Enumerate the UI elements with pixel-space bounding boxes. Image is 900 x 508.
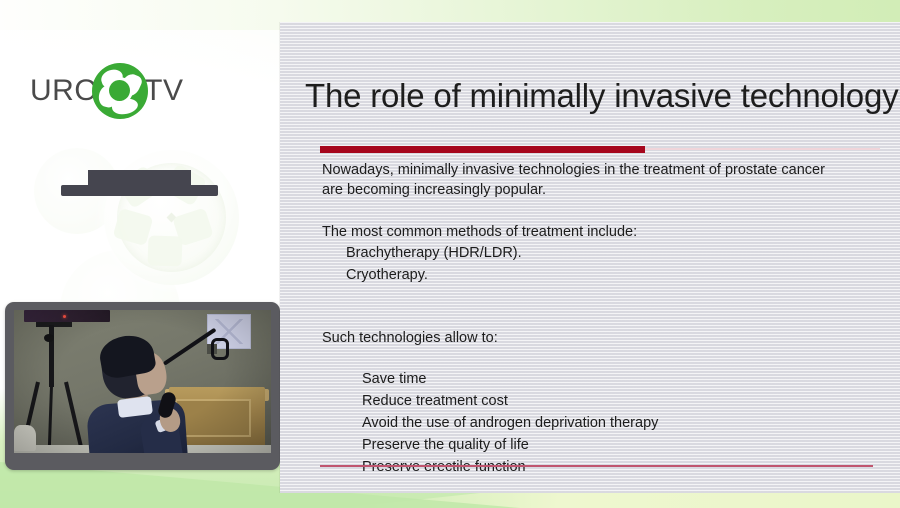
spacer <box>280 348 900 368</box>
methods-heading: The most common methods of treatment inc… <box>280 222 900 242</box>
video-screen[interactable] <box>14 310 271 453</box>
video-scene-mic-boom-head <box>211 338 229 360</box>
list-item: Brachytherapy (HDR/LDR). <box>280 242 900 264</box>
video-player-monitor[interactable] <box>5 302 280 470</box>
video-scene-podium-panel <box>175 399 251 437</box>
video-scene-tripod-head <box>36 322 72 327</box>
monitor-stand-neck <box>88 170 191 185</box>
presentation-viewer: URO TV <box>0 0 900 508</box>
slide-bottom-rule <box>320 465 873 467</box>
list-item: Save time <box>280 368 900 390</box>
spacer <box>280 200 900 222</box>
slide-panel[interactable]: The role of minimally invasive technolog… <box>280 22 900 493</box>
uro-tv-logo[interactable]: URO TV <box>30 62 170 120</box>
slide-body: Nowadays, minimally invasive technologie… <box>280 160 900 478</box>
intro-line-1: Nowadays, minimally invasive technologie… <box>280 160 900 180</box>
video-scene-led-indicator <box>63 315 66 318</box>
benefits-list: Save time Reduce treatment cost Avoid th… <box>280 368 900 478</box>
list-item: Reduce treatment cost <box>280 390 900 412</box>
list-item: Preserve erectile function <box>280 456 900 478</box>
video-scene-cloth <box>14 425 36 451</box>
uro-tv-circular-logo-icon <box>92 63 148 119</box>
film-reel-spoke-gap <box>147 235 182 266</box>
slide-top-rule-accent <box>320 146 645 153</box>
benefits-heading: Such technologies allow to: <box>280 328 900 348</box>
list-item: Cryotherapy. <box>280 264 900 286</box>
video-scene-light-bar <box>24 310 110 322</box>
spacer <box>280 286 900 308</box>
logo-word-uro: URO <box>30 76 98 106</box>
monitor-stand-base <box>61 185 218 196</box>
methods-list: Brachytherapy (HDR/LDR). Cryotherapy. <box>280 242 900 286</box>
video-scene-tripod-knob <box>44 334 54 342</box>
intro-line-2: are becoming increasingly popular. <box>280 180 900 200</box>
list-item: Avoid the use of androgen deprivation th… <box>280 412 900 434</box>
spacer <box>280 308 900 328</box>
slide-title: The role of minimally invasive technolog… <box>305 77 898 115</box>
list-item: Preserve the quality of life <box>280 434 900 456</box>
logo-word-tv: TV <box>144 76 183 106</box>
